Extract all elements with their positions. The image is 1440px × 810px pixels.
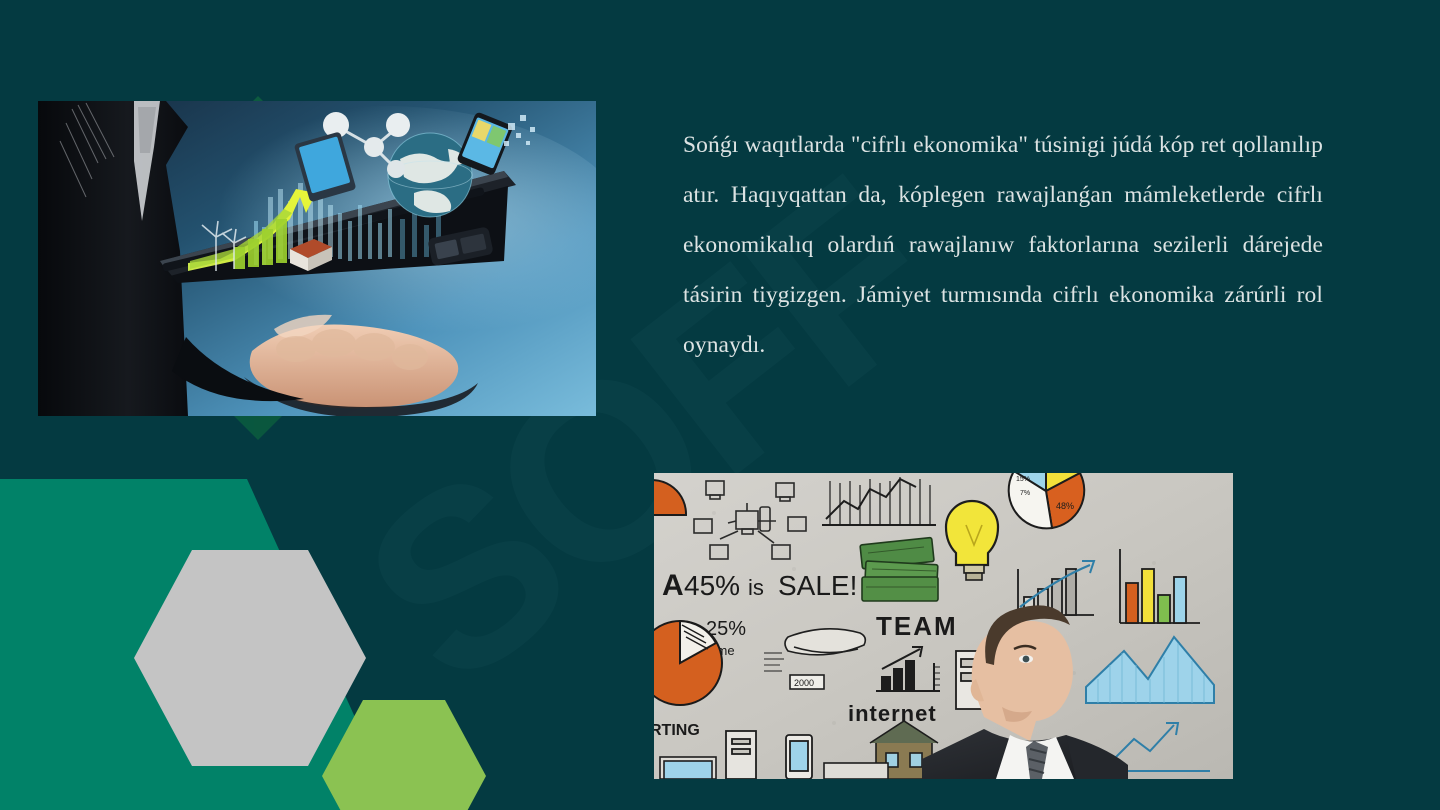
svg-text:internet: internet <box>848 701 937 726</box>
svg-text:7%: 7% <box>1020 490 1030 497</box>
svg-text:48%: 48% <box>1056 501 1074 511</box>
digital-economy-illustration <box>38 101 596 416</box>
body-paragraph: Sońǵı waqıtlarda "cifrlı ekonomika" túsi… <box>683 120 1323 370</box>
svg-text:45%: 45% <box>684 570 740 601</box>
svg-text:RTING: RTING <box>654 722 700 739</box>
business-doodle-illustration: 30% 15% 7% 48% A 45% is SALE! 25% time R… <box>654 473 1233 779</box>
svg-text:30%: 30% <box>1056 473 1074 475</box>
business-doodle-wall-photo: 30% 15% 7% 48% A 45% is SALE! 25% time R… <box>654 473 1233 779</box>
svg-text:15%: 15% <box>1016 476 1030 483</box>
svg-text:A: A <box>662 569 684 602</box>
body-text-block: Sońǵı waqıtlarda "cifrlı ekonomika" túsi… <box>683 120 1323 370</box>
svg-text:SALE!: SALE! <box>778 570 857 601</box>
svg-text:TEAM: TEAM <box>876 611 958 641</box>
presentation-slide: 30% 15% 7% 48% A 45% is SALE! 25% time R… <box>0 0 1440 810</box>
svg-text:2000: 2000 <box>794 678 814 688</box>
svg-text:is: is <box>748 575 764 600</box>
digital-economy-tablet-photo <box>38 101 596 416</box>
